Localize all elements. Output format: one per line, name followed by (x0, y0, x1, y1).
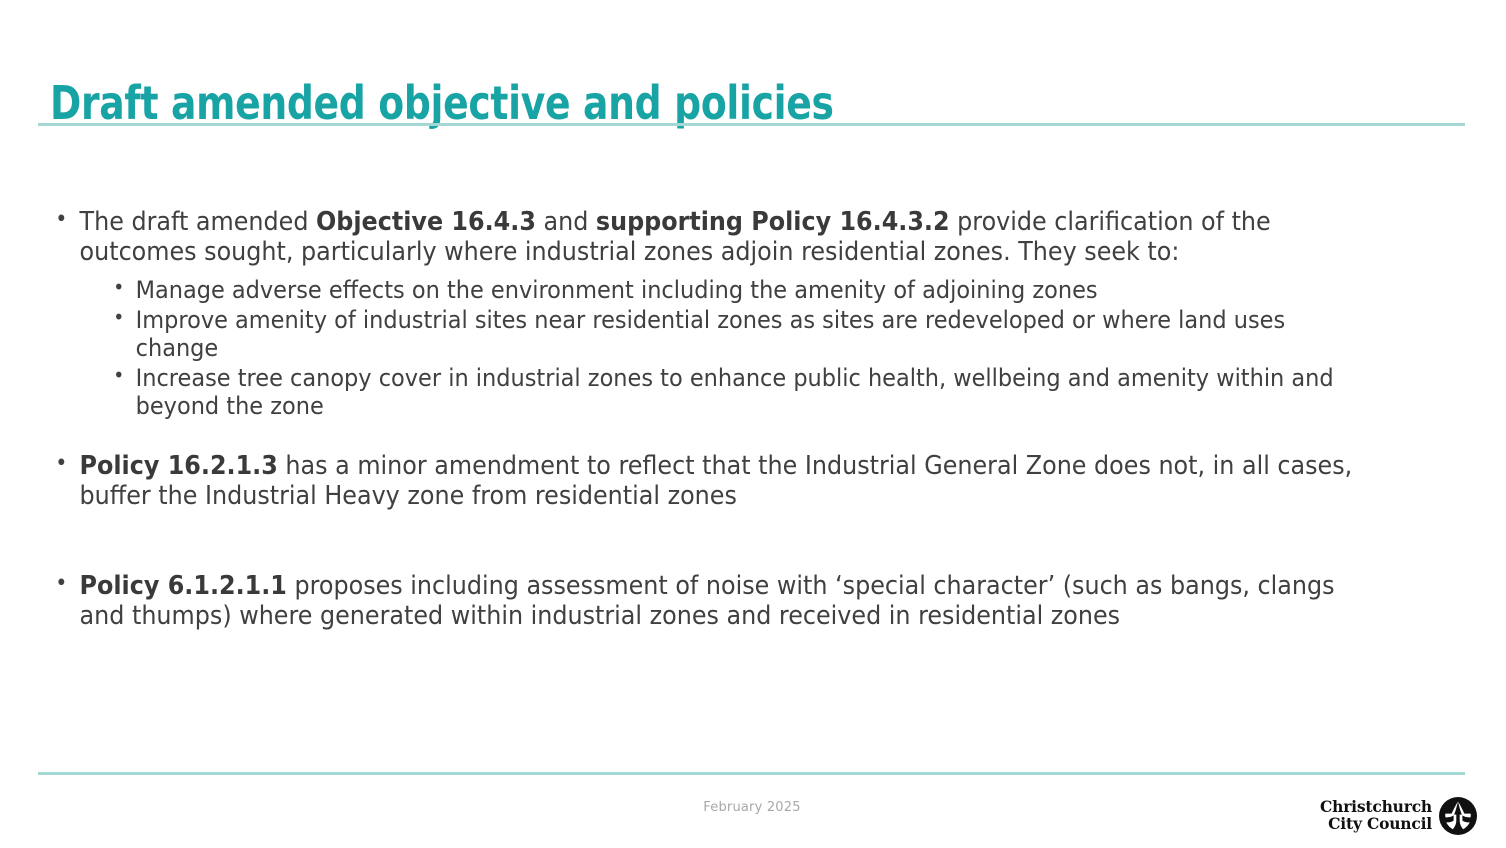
christchurch-city-council-logo: Christchurch City Council (1336, 792, 1478, 840)
sub-bullet-manage-effects: Manage adverse effects on the environmen… (100, 276, 1353, 304)
bullet-policy-61211-text: Policy 6.1.2.1.1 proposes including asse… (80, 572, 1353, 632)
footer-date-text: February 2025 (703, 800, 800, 815)
logo-line-2: City Council (1320, 816, 1432, 833)
bullet-list: The draft amended Objective 16.4.3 and s… (44, 208, 1444, 631)
sub-bullet-tree-canopy: Increase tree canopy cover in industrial… (100, 364, 1353, 420)
title-divider (38, 123, 1465, 126)
sub-bullet-text: Manage adverse effects on the environmen… (136, 276, 1098, 304)
seg-bold: Policy 6.1.2.1.1 (80, 571, 287, 601)
sub-bullet-text: Increase tree canopy cover in industrial… (136, 364, 1334, 420)
sub-bullet-text: Improve amenity of industrial sites near… (136, 306, 1286, 362)
slide-body: The draft amended Objective 16.4.3 and s… (44, 208, 1444, 631)
bullet-policy-16213-text: Policy 16.2.1.3 has a minor amendment to… (80, 452, 1353, 512)
logo-wordmark: Christchurch City Council (1320, 799, 1432, 832)
slide: Draft amended objective and policies The… (0, 0, 1506, 848)
bullet-policy-61211: Policy 6.1.2.1.1 proposes including asse… (44, 572, 1353, 632)
sub-bullet-improve-amenity: Improve amenity of industrial sites near… (100, 306, 1353, 362)
seg-bold: supporting Policy 16.4.3.2 (596, 207, 950, 237)
seg: The draft amended (80, 207, 317, 237)
spacer (44, 542, 1444, 572)
bullet-objective: The draft amended Objective 16.4.3 and s… (44, 208, 1353, 420)
bullet-objective-text: The draft amended Objective 16.4.3 and s… (80, 208, 1353, 268)
footer-date: February 2025 (0, 800, 1506, 815)
bullet-policy-16213: Policy 16.2.1.3 has a minor amendment to… (44, 452, 1353, 512)
seg: and (536, 207, 596, 237)
sub-bullet-list: Manage adverse effects on the environmen… (80, 276, 1353, 420)
spacer (44, 422, 1444, 452)
footer-divider (38, 772, 1465, 775)
page-title: Draft amended objective and policies (50, 79, 1198, 127)
seg-bold: Policy 16.2.1.3 (80, 451, 278, 481)
spacer (44, 512, 1444, 542)
seg-bold: Objective 16.4.3 (316, 207, 536, 237)
christchurch-council-emblem-icon (1438, 796, 1478, 836)
